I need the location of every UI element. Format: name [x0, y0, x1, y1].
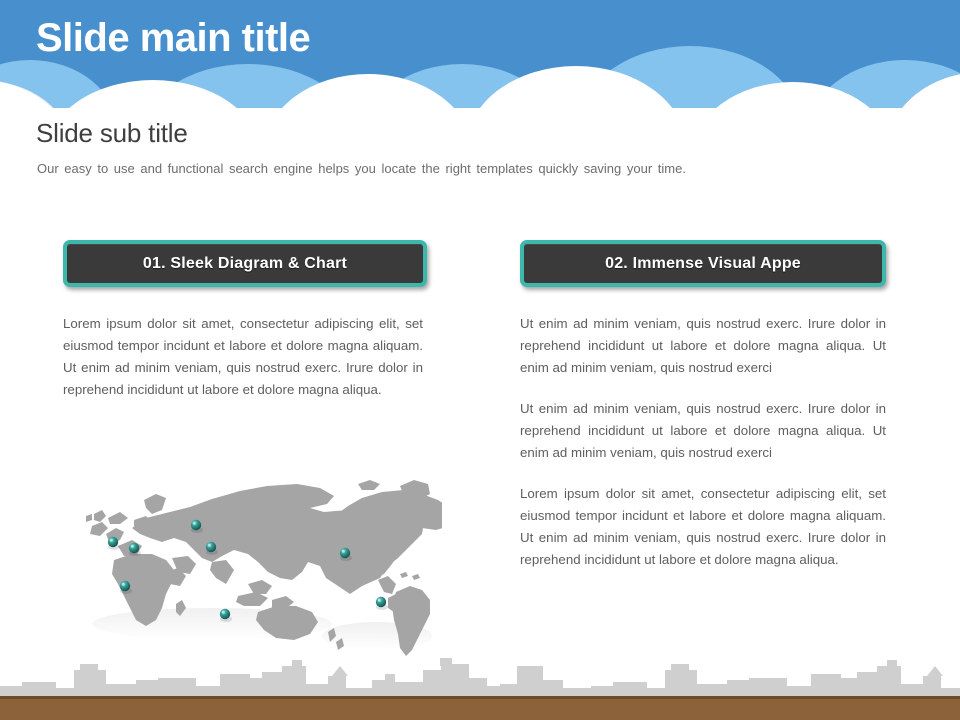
- world-map-icon: [62, 466, 442, 662]
- column-right-paragraph-1: Ut enim ad minim veniam, quis nostrud ex…: [520, 313, 886, 379]
- column-right-paragraph-2: Ut enim ad minim veniam, quis nostrud ex…: [520, 398, 886, 464]
- content-column-right: 02. Immense Visual Appe Ut enim ad minim…: [520, 240, 886, 571]
- city-skyline-icon: [0, 650, 960, 696]
- content-column-left: 01. Sleek Diagram & Chart Lorem ipsum do…: [63, 240, 427, 401]
- section-header-01[interactable]: 01. Sleek Diagram & Chart: [63, 240, 427, 287]
- world-map: [62, 466, 442, 662]
- column-left-paragraph-1: Lorem ipsum dolor sit amet, consectetur …: [63, 313, 423, 401]
- column-right-paragraph-3: Lorem ipsum dolor sit amet, consectetur …: [520, 483, 886, 571]
- section-header-01-label: 01. Sleek Diagram & Chart: [143, 255, 347, 273]
- ground-band: [0, 696, 960, 720]
- map-marker-south-america[interactable]: [376, 597, 388, 610]
- city-skyline: [0, 650, 960, 696]
- section-header-02-label: 02. Immense Visual Appe: [605, 255, 801, 273]
- slide-lead-text: Our easy to use and functional search en…: [37, 161, 686, 176]
- slide-main-title: Slide main title: [36, 16, 310, 61]
- slide-sub-title: Slide sub title: [36, 118, 188, 149]
- section-header-02[interactable]: 02. Immense Visual Appe: [520, 240, 886, 287]
- header-sky-band: Slide main title: [0, 0, 960, 112]
- slide-canvas: Slide main title Slide sub title Our eas…: [0, 0, 960, 720]
